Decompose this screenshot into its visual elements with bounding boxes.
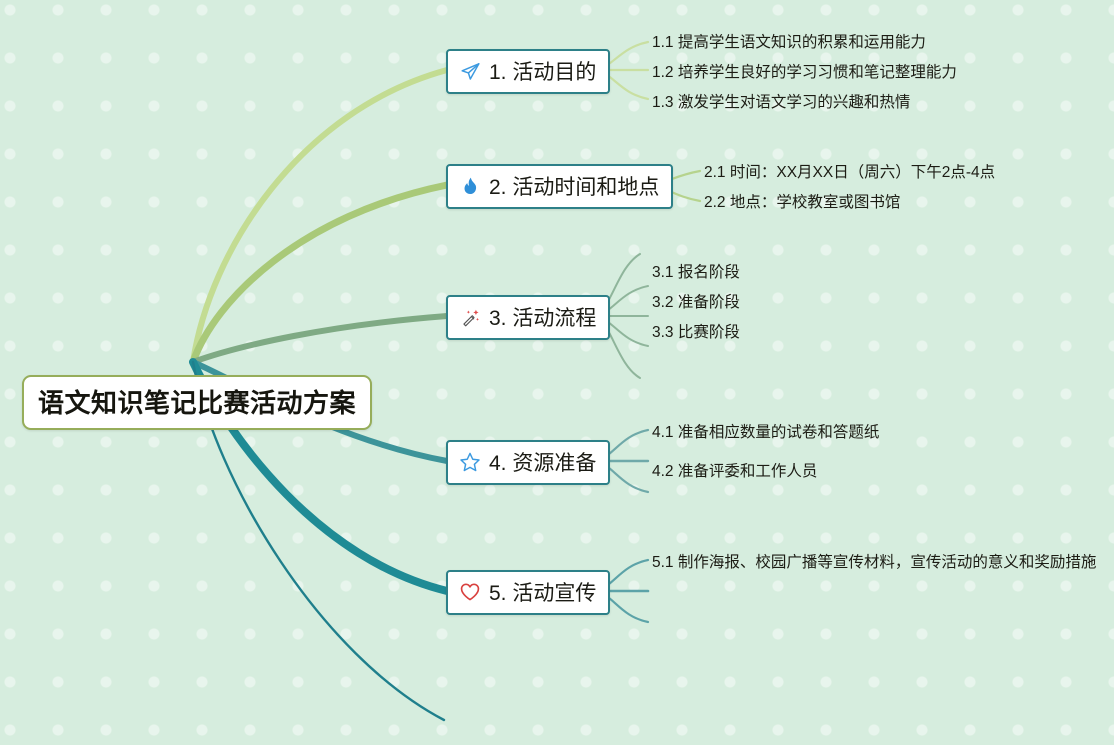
leaf-2-2[interactable]: 2.2 地点：学校教室或图书馆 xyxy=(704,195,900,211)
branch-node-5-label: 5. 活动宣传 xyxy=(489,577,596,607)
mindmap-canvas: 语文知识笔记比赛活动方案 1. 活动目的 2. 活动时间和地点 xyxy=(0,0,1114,745)
leaf-1-2[interactable]: 1.2 培养学生良好的学习习惯和笔记整理能力 xyxy=(652,65,957,81)
leaf-3-3[interactable]: 3.3 比赛阶段 xyxy=(652,325,740,341)
star-icon xyxy=(458,450,482,474)
mindmap-edges xyxy=(0,0,1114,745)
paper-plane-icon xyxy=(458,59,482,83)
branch-node-4[interactable]: 4. 资源准备 xyxy=(446,440,610,485)
edge-root-branch-2 xyxy=(193,185,447,362)
branch-node-2-label: 2. 活动时间和地点 xyxy=(489,171,659,201)
leaf-5-1[interactable]: 5.1 制作海报、校园广播等宣传材料，宣传活动的意义和奖励措施 xyxy=(652,555,1096,571)
branch-node-3-label: 3. 活动流程 xyxy=(489,302,596,332)
root-node-label: 语文知识笔记比赛活动方案 xyxy=(38,383,356,420)
branch-node-4-label: 4. 资源准备 xyxy=(489,447,596,477)
branch-node-2[interactable]: 2. 活动时间和地点 xyxy=(446,164,673,209)
leaf-3-2[interactable]: 3.2 准备阶段 xyxy=(652,295,740,311)
flame-icon xyxy=(458,174,482,198)
leaf-4-2[interactable]: 4.2 准备评委和工作人员 xyxy=(652,464,817,480)
root-node[interactable]: 语文知识笔记比赛活动方案 xyxy=(22,375,372,430)
branch-node-5[interactable]: 5. 活动宣传 xyxy=(446,570,610,615)
edge-root-branch-1 xyxy=(193,70,447,362)
heart-icon xyxy=(458,580,482,604)
leaf-1-3[interactable]: 1.3 激发学生对语文学习的兴趣和热情 xyxy=(652,95,910,111)
branch-node-1-label: 1. 活动目的 xyxy=(489,56,596,86)
leaf-3-1[interactable]: 3.1 报名阶段 xyxy=(652,265,740,281)
branch-node-1[interactable]: 1. 活动目的 xyxy=(446,49,610,94)
edge-root-branch-3 xyxy=(193,316,447,362)
branch-node-3[interactable]: 3. 活动流程 xyxy=(446,295,610,340)
leaf-2-1[interactable]: 2.1 时间：XX月XX日（周六）下午2点-4点 xyxy=(704,165,995,181)
magic-wand-icon xyxy=(458,305,482,329)
leaf-1-1[interactable]: 1.1 提高学生语文知识的积累和运用能力 xyxy=(652,35,926,51)
leaf-4-1[interactable]: 4.1 准备相应数量的试卷和答题纸 xyxy=(652,425,879,441)
